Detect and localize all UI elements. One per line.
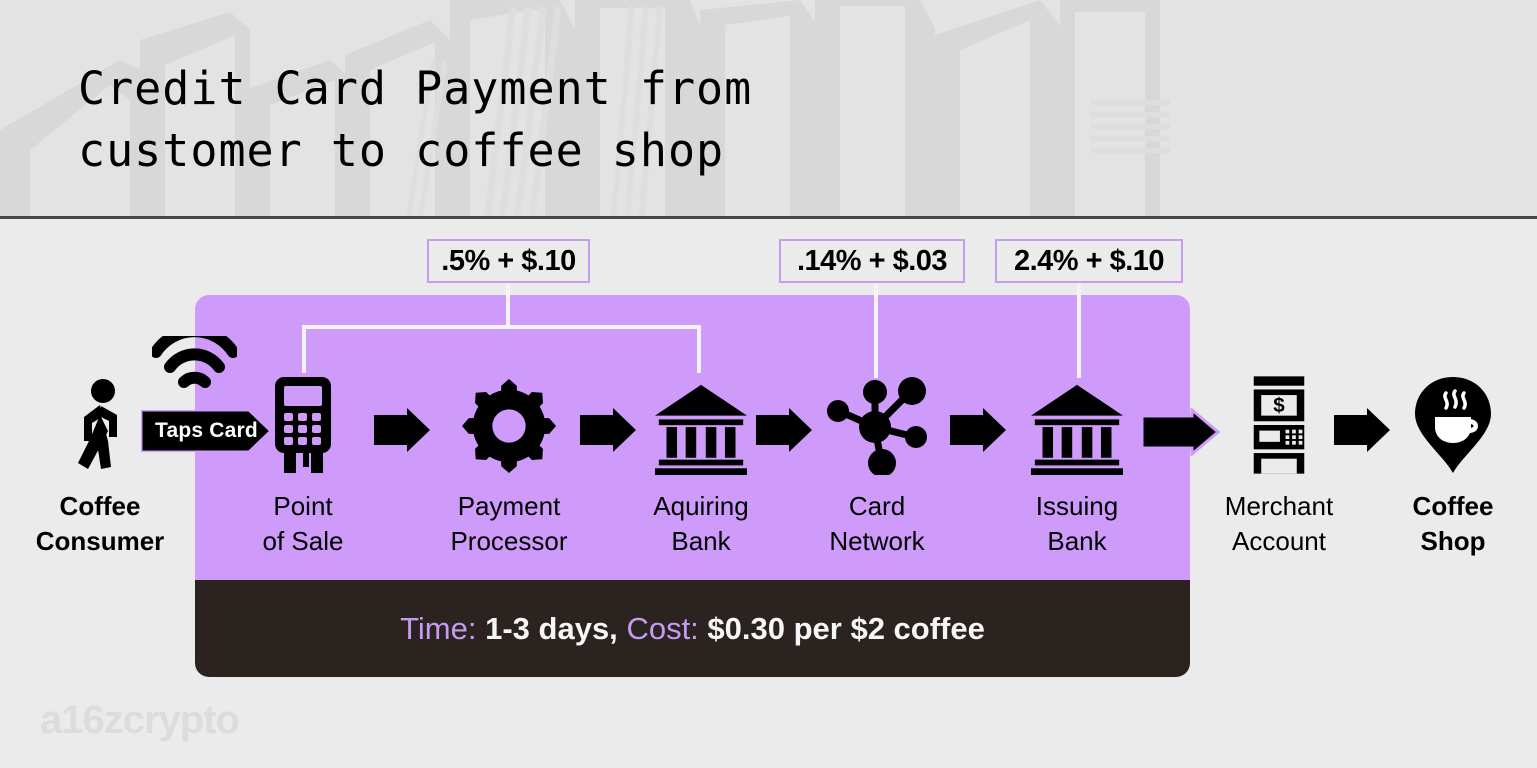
summary-cost-key: Cost:	[626, 611, 698, 647]
fee-callout-1: .14% + $.03	[779, 239, 965, 283]
fee-lead-line-0-right-drop	[697, 325, 701, 373]
page-title: Credit Card Payment from customer to cof…	[78, 58, 978, 182]
infographic-canvas: Credit Card Payment from customer to cof…	[0, 0, 1537, 768]
node-aquiring-bank: Aquiring Bank	[626, 370, 776, 559]
header-divider	[0, 216, 1537, 219]
fee-lead-line-0-bracket	[302, 325, 701, 329]
summary-text: Time: 1-3 days, Cost: $0.30 per $2 coffe…	[195, 580, 1190, 677]
network-nodes-icon	[802, 370, 952, 475]
node-coffee-shop-label: Coffee Shop	[1378, 489, 1528, 559]
fee-lead-line-2	[1077, 283, 1081, 378]
node-issuing-bank-label: Issuing Bank	[1002, 489, 1152, 559]
node-coffee-consumer-label: Coffee Consumer	[25, 489, 175, 559]
node-merchant-account-label: Merchant Account	[1204, 489, 1354, 559]
pos-terminal-icon	[228, 370, 378, 475]
bank-icon	[1002, 370, 1152, 475]
fee-callout-0-label: .5% + $.10	[441, 245, 575, 278]
node-aquiring-bank-label: Aquiring Bank	[626, 489, 776, 559]
gear-icon	[434, 370, 584, 475]
a16zcrypto-watermark: a16zcrypto	[40, 698, 239, 743]
node-point-of-sale: Point of Sale	[228, 370, 378, 559]
summary-time-key: Time:	[400, 611, 476, 647]
svg-text:$: $	[1273, 394, 1285, 417]
fee-lead-line-0-stem	[506, 283, 510, 328]
flow-arrow-icon-1	[374, 408, 430, 457]
node-coffee-consumer: Coffee Consumer	[25, 370, 175, 559]
summary-cost-value: $0.30 per $2 coffee	[707, 611, 984, 647]
node-merchant-account: $ Merchant Account	[1204, 370, 1354, 559]
fee-lead-line-1	[874, 283, 878, 378]
node-point-of-sale-label: Point of Sale	[228, 489, 378, 559]
bank-icon	[626, 370, 776, 475]
node-card-network: Card Network	[802, 370, 952, 559]
flow-arrow-icon-4	[950, 408, 1006, 457]
fee-lead-line-0-left-drop	[302, 325, 306, 373]
node-issuing-bank: Issuing Bank	[1002, 370, 1152, 559]
node-coffee-shop: Coffee Shop	[1378, 370, 1528, 559]
coffee-pin-icon	[1378, 370, 1528, 475]
node-payment-processor: Payment Processor	[434, 370, 584, 559]
fee-callout-2-label: 2.4% + $.10	[1014, 245, 1164, 278]
fee-callout-0: .5% + $.10	[427, 239, 590, 283]
node-payment-processor-label: Payment Processor	[434, 489, 584, 559]
contactless-wave-icon	[152, 336, 237, 393]
fee-callout-1-label: .14% + $.03	[797, 245, 947, 278]
atm-icon: $	[1204, 370, 1354, 475]
summary-time-value: 1-3 days,	[485, 611, 618, 647]
node-card-network-label: Card Network	[802, 489, 952, 559]
fee-callout-2: 2.4% + $.10	[995, 239, 1183, 283]
